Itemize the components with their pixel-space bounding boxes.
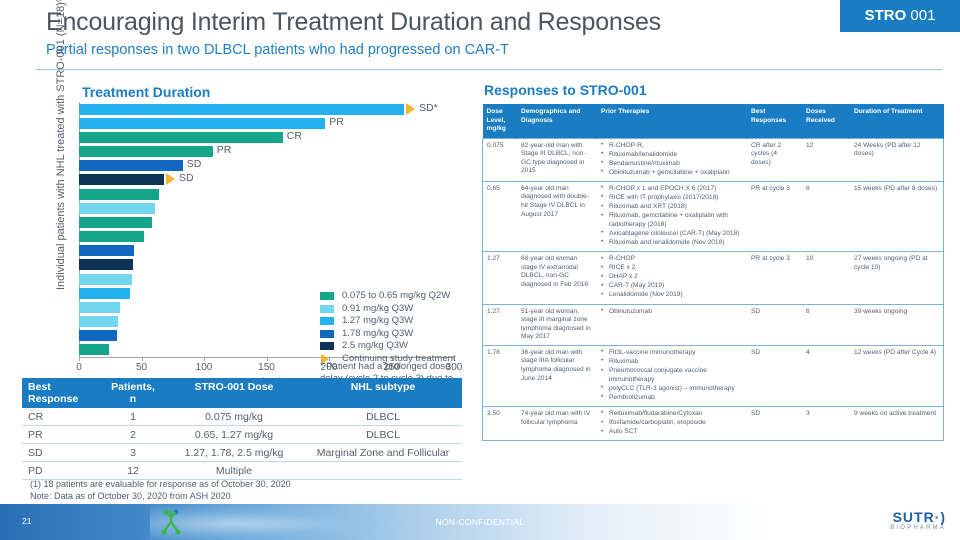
continuing-treatment-arrow-icon: [166, 173, 175, 185]
col-patients-n: Patients, n: [102, 378, 164, 408]
cell-dose-level: 0.65: [483, 181, 517, 251]
chart-bar-row: SD: [79, 174, 454, 185]
detail-header-row: Dose Level, mg/kg Demographics and Diagn…: [483, 104, 944, 138]
table-cell-response: SD: [22, 444, 102, 462]
cell-prior-therapies: R-CHOP-R,Rituximab/lenalidomideBendamust…: [597, 138, 747, 181]
cell-best-response: CR after 2 cycles (4 doses): [747, 138, 802, 181]
list-item: CAR-T (May 2019): [609, 282, 742, 291]
list-item: polyCLC (TLR-3 agonist) – immunotherapy: [609, 385, 742, 394]
cell-dose-level: 2.50: [483, 406, 517, 440]
table-row: 0.07582-year-old man with Stage III DLBC…: [483, 138, 944, 181]
prior-therapies-list: Obinutuzumab: [601, 308, 742, 317]
cell-duration-of-treatment: 12 weeks (PD after Cycle 4): [850, 345, 944, 406]
table-cell-subtype: DLBCL: [304, 426, 462, 444]
cell-prior-therapies: Obinutuzumab: [597, 304, 747, 345]
cell-duration-of-treatment: 39 weeks ongoing: [850, 304, 944, 345]
chart-bar: [79, 203, 155, 214]
chart-bar: [79, 231, 144, 242]
table-cell-dose: Multiple: [164, 462, 304, 480]
cell-demographics: 51-year old woman, stage III marginal zo…: [517, 304, 597, 345]
cell-doses-received: 8: [802, 181, 850, 251]
legend-item-label: 1.78 mg/kg Q3W: [342, 328, 413, 339]
table-row: 1.7836-year old man with stage IIIA foll…: [483, 345, 944, 406]
cell-doses-received: 3: [802, 406, 850, 440]
table-row: 1.2751-year old woman, stage III margina…: [483, 304, 944, 345]
table-row: PD12Multiple: [22, 462, 462, 480]
responses-detail-table: Dose Level, mg/kg Demographics and Diagn…: [482, 104, 944, 441]
chart-bar: [79, 316, 118, 327]
chart-bar: [79, 132, 283, 143]
col-doses-received: Doses Received: [802, 104, 850, 138]
cell-dose-level: 0.075: [483, 138, 517, 181]
chart-bar: [79, 104, 404, 115]
table-cell-dose: 0.075 mg/kg: [164, 408, 304, 426]
table-cell-response: CR: [22, 408, 102, 426]
header-divider: [36, 69, 942, 70]
col-prior-therapies: Prior Therapies: [597, 104, 747, 138]
table-row: PR20.65, 1.27 mg/kgDLBCL: [22, 426, 462, 444]
chart-bar-row: SD*: [79, 104, 454, 115]
cell-demographics: 68-year old woman stage IV extranodal DL…: [517, 252, 597, 304]
chart-bar-row: [79, 189, 454, 200]
chart-x-tick: [79, 357, 80, 361]
chart-bar: [79, 288, 130, 299]
cell-best-response: PR at cycle 3: [747, 181, 802, 251]
col-dose-level: Dose Level, mg/kg: [483, 104, 517, 138]
list-item: R-CHOP-R,: [609, 142, 742, 151]
page-subtitle: Partial responses in two DLBCL patients …: [46, 42, 509, 58]
cell-doses-received: 6: [802, 304, 850, 345]
chart-bar: [79, 245, 134, 256]
chart-legend-item: 1.78 mg/kg Q3W: [320, 328, 485, 341]
chart-bar-row: PR: [79, 146, 454, 157]
chart-y-axis-label: Individual patients with NHL treated wit…: [54, 80, 68, 290]
legend-color-swatch: [320, 330, 334, 338]
list-item: Auto SCT: [609, 428, 742, 437]
badge-bold-text: STRO: [865, 7, 907, 24]
list-item: R-CHOP x 1 and EPOCH X 6 (2017): [609, 185, 742, 194]
list-item: Pneumococcal conjugate vaccine immunothe…: [609, 367, 742, 384]
chart-legend-item: 0.075 to 0.65 mg/kg Q2W: [320, 290, 485, 303]
chart-x-tick-label: 50: [136, 362, 147, 373]
chart-bar: [79, 217, 152, 228]
list-item: RICE with IT prophylaxis (2017/2018): [609, 194, 742, 203]
cell-dose-level: 1.27: [483, 304, 517, 345]
list-item: Lenalidomide (Nov 2019): [609, 291, 742, 300]
chart-x-tick-label: 100: [196, 362, 213, 373]
cell-best-response: SD: [747, 304, 802, 345]
cell-prior-therapies: Flt3L-vaccine immunotherapyRituximabPneu…: [597, 345, 747, 406]
chart-bar-row: [79, 274, 454, 285]
responses-detail-panel: Responses to STRO-001 Dose Level, mg/kg …: [482, 78, 944, 441]
chart-bar: [79, 160, 183, 171]
prior-therapies-list: R-CHOP x 1 and EPOCH X 6 (2017)RICE with…: [601, 185, 742, 248]
note-line-1: (1) 18 patients are evaluable for respon…: [30, 478, 291, 490]
chart-bar: [79, 344, 109, 355]
chart-bar-row: [79, 217, 454, 228]
chart-bar-label: PR: [329, 116, 344, 128]
chart-legend-item: 0.91 mg/kg Q3W: [320, 303, 485, 316]
sutro-biopharma-logo: SUTR·) BIOPHARMA: [890, 510, 946, 533]
prior-therapies-list: R-CHOP-R,Rituximab/lenalidomideBendamust…: [601, 142, 742, 178]
note-line-2: Note: Data as of October 30, 2020 from A…: [30, 490, 291, 502]
list-item: Obinituzumab + gemcitabine + oxaliplatin: [609, 169, 742, 178]
chart-bar-label: PR: [217, 144, 232, 156]
chart-x-tick-label: 0: [76, 362, 82, 373]
table-row: 1.2768-year old woman stage IV extranoda…: [483, 252, 944, 304]
stro-001-badge: STRO 001: [840, 0, 960, 32]
slide-notes: (1) 18 patients are evaluable for respon…: [30, 478, 291, 502]
cell-best-response: PR at cycle 3: [747, 252, 802, 304]
chart-bar-label: SD: [179, 172, 194, 184]
legend-color-swatch: [320, 342, 334, 350]
chart-bar-row: PR: [79, 118, 454, 129]
chart-legend-item: 1.27 mg/kg Q3W: [320, 315, 485, 328]
chart-bar-label: SD*: [419, 102, 438, 114]
col-demographics: Demographics and Diagnosis: [517, 104, 597, 138]
continuing-treatment-arrow-icon: [406, 103, 415, 115]
logo-wordmark: SUTR·): [890, 510, 946, 524]
cell-duration-of-treatment: 24 Weeks (PD after 12 doses): [850, 138, 944, 181]
chart-bar-row: [79, 245, 454, 256]
table-header-row: Best Response Patients, n STRO-001 Dose …: [22, 378, 462, 408]
cell-prior-therapies: R-CHOP x 1 and EPOCH X 6 (2017)RICE with…: [597, 181, 747, 251]
list-item: Ifosfamide/carboplatin, etoposide: [609, 419, 742, 428]
list-item: Axicabtagene ciloleucel (CAR-T) (May 201…: [609, 230, 742, 239]
list-item: Reituximab/fludarabine/Cytoxan: [609, 410, 742, 419]
chart-bar-row: [79, 231, 454, 242]
prior-therapies-list: R-CHOPRICE x 2DHAP x 2CAR-T (May 2019)Le…: [601, 255, 742, 300]
cell-prior-therapies: R-CHOPRICE x 2DHAP x 2CAR-T (May 2019)Le…: [597, 252, 747, 304]
chart-x-tick-label: 150: [258, 362, 275, 373]
badge-rest-text: 001: [906, 7, 935, 24]
list-item: Bendamustine/rituximab: [609, 160, 742, 169]
cell-dose-level: 1.27: [483, 252, 517, 304]
cell-duration-of-treatment: 9 weeks on active treatment: [850, 406, 944, 440]
chart-bar: [79, 174, 164, 185]
table-row: CR10.075 mg/kgDLBCL: [22, 408, 462, 426]
chart-title: Treatment Duration: [82, 84, 210, 100]
col-best-response: Best Response: [22, 378, 102, 408]
col-nhl-subtype: NHL subtype: [304, 378, 462, 408]
table-cell-subtype: DLBCL: [304, 408, 462, 426]
table-cell-patients: 12: [102, 462, 164, 480]
col-duration-treatment: Duration of Treatment: [850, 104, 944, 138]
cell-doses-received: 10: [802, 252, 850, 304]
table-cell-patients: 1: [102, 408, 164, 426]
list-item: Flt3L-vaccine immunotherapy: [609, 349, 742, 358]
list-item: Rituximab and XRT (2018): [609, 203, 742, 212]
cell-doses-received: 12: [802, 138, 850, 181]
chart-bar: [79, 274, 132, 285]
list-item: RICE x 2: [609, 264, 742, 273]
cell-duration-of-treatment: 27 weeks ongoing (PD at cycle 10): [850, 252, 944, 304]
chart-bar: [79, 118, 325, 129]
list-item: Pembrolizumab: [609, 394, 742, 403]
col-best-responses: Best Responses: [747, 104, 802, 138]
cell-demographics: 64-year old man diagnosed with double-hi…: [517, 181, 597, 251]
prior-therapies-list: Flt3L-vaccine immunotherapyRituximabPneu…: [601, 349, 742, 403]
legend-color-swatch: [320, 305, 334, 313]
col-stro-dose: STRO-001 Dose: [164, 378, 304, 408]
table-cell-subtype: Marginal Zone and Follicular: [304, 444, 462, 462]
legend-item-label: 2.5 mg/kg Q3W: [342, 340, 408, 351]
logo-tagline: BIOPHARMA: [890, 524, 946, 533]
footer-confidentiality-label: NON-CONFIDENTIAL: [0, 517, 960, 527]
table-cell-patients: 2: [102, 426, 164, 444]
cell-best-response: SD: [747, 345, 802, 406]
table-row: 0.6564-year old man diagnosed with doubl…: [483, 181, 944, 251]
chart-x-tick: [204, 357, 205, 361]
chart-bar: [79, 302, 120, 313]
cell-demographics: 74-year old man with IV follicular lymph…: [517, 406, 597, 440]
chart-bar: [79, 189, 159, 200]
table-cell-dose: 0.65, 1.27 mg/kg: [164, 426, 304, 444]
cell-demographics: 36-year old man with stage IIIA follicul…: [517, 345, 597, 406]
chart-legend: 0.075 to 0.65 mg/kg Q2W0.91 mg/kg Q3W1.2…: [320, 290, 485, 368]
table-row: SD31.27, 1.78, 2.5 mg/kgMarginal Zone an…: [22, 444, 462, 462]
cell-doses-received: 4: [802, 345, 850, 406]
cell-demographics: 82-year-old man with Stage III DLBCL, no…: [517, 138, 597, 181]
chart-x-tick: [267, 357, 268, 361]
list-item: Rituximab and lenalidomide (Nov 2018): [609, 239, 742, 248]
detail-table-body: 0.07582-year-old man with Stage III DLBC…: [483, 138, 944, 441]
legend-color-swatch: [320, 317, 334, 325]
chart-bar-row: [79, 259, 454, 270]
cell-prior-therapies: Reituximab/fludarabine/CytoxanIfosfamide…: [597, 406, 747, 440]
legend-color-swatch: [320, 292, 334, 300]
slide-header: Encouraging Interim Treatment Duration a…: [0, 0, 960, 72]
list-item: Rituximab/lenalidomide: [609, 151, 742, 160]
chart-bar-label: SD: [187, 158, 202, 170]
legend-item-label: 0.075 to 0.65 mg/kg Q2W: [342, 290, 450, 301]
best-response-table-body: CR10.075 mg/kgDLBCLPR20.65, 1.27 mg/kgDL…: [22, 408, 462, 480]
chart-bar: [79, 330, 117, 341]
chart-bar: [79, 146, 213, 157]
legend-item-label: 1.27 mg/kg Q3W: [342, 315, 413, 326]
slide-footer: 21 NON-CONFIDENTIAL SUTR·) BIOPHARMA: [0, 504, 960, 540]
table-cell-dose: 1.27, 1.78, 2.5 mg/kg: [164, 444, 304, 462]
chart-legend-item: 2.5 mg/kg Q3W: [320, 340, 485, 353]
table-row: 2.5074-year old man with IV follicular l…: [483, 406, 944, 440]
chart-bar-row: SD: [79, 160, 454, 171]
cell-duration-of-treatment: 15 weeks (PD after 8 doses): [850, 181, 944, 251]
responses-panel-title: Responses to STRO-001: [484, 82, 944, 98]
cell-dose-level: 1.78: [483, 345, 517, 406]
legend-item-label: 0.91 mg/kg Q3W: [342, 303, 413, 314]
chart-bar-row: CR: [79, 132, 454, 143]
prior-therapies-list: Reituximab/fludarabine/CytoxanIfosfamide…: [601, 410, 742, 437]
page-title: Encouraging Interim Treatment Duration a…: [46, 8, 661, 37]
chart-x-tick: [142, 357, 143, 361]
table-cell-response: PD: [22, 462, 102, 480]
chart-bar: [79, 259, 133, 270]
list-item: Rituximab: [609, 358, 742, 367]
treatment-duration-chart-panel: Treatment Duration Individual patients w…: [20, 78, 472, 368]
list-item: Rituximab, gemcitabine + oxaliplatin wit…: [609, 212, 742, 229]
table-cell-subtype: [304, 462, 462, 480]
table-cell-response: PR: [22, 426, 102, 444]
table-cell-patients: 3: [102, 444, 164, 462]
list-item: DHAP x 2: [609, 273, 742, 282]
best-response-summary-table: Best Response Patients, n STRO-001 Dose …: [22, 378, 462, 480]
list-item: R-CHOP: [609, 255, 742, 264]
chart-bar-label: CR: [287, 130, 302, 142]
chart-bar-row: [79, 203, 454, 214]
cell-best-response: SD: [747, 406, 802, 440]
list-item: Obinutuzumab: [609, 308, 742, 317]
